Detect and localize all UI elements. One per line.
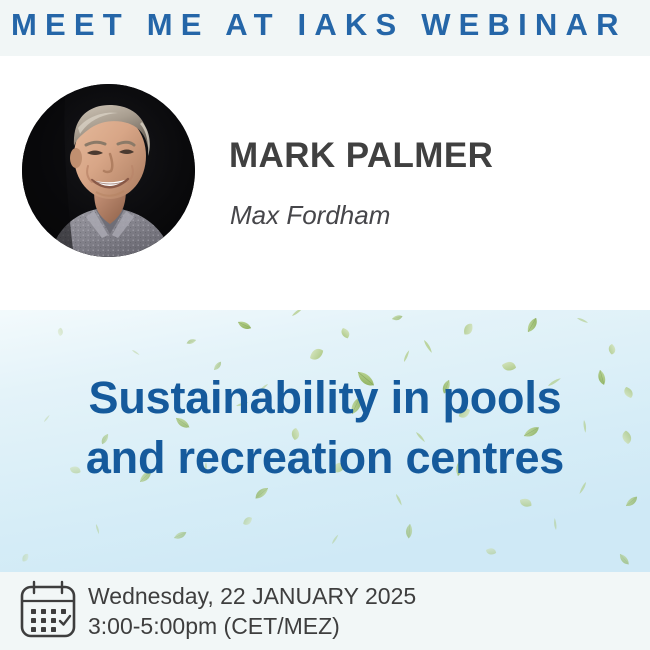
webinar-title: Sustainability in pools and recreation c… <box>0 368 650 488</box>
webinar-title-line-1: Sustainability in pools <box>0 368 650 428</box>
webinar-title-line-2: and recreation centres <box>0 428 650 488</box>
calendar-icon <box>17 578 79 640</box>
speaker-avatar <box>22 84 195 257</box>
avatar-photo <box>22 84 195 257</box>
header-banner-text: MEET ME AT IAKS WEBINAR <box>11 7 627 43</box>
event-date: Wednesday, 22 JANUARY 2025 <box>88 581 416 611</box>
event-time: 3:00-5:00pm (CET/MEZ) <box>88 611 416 641</box>
webinar-promo-poster: MEET ME AT IAKS WEBINAR <box>0 0 650 650</box>
speaker-name: MARK PALMER <box>229 136 493 176</box>
speaker-organisation: Max Fordham <box>230 200 390 231</box>
header-banner: MEET ME AT IAKS WEBINAR <box>0 0 650 56</box>
event-datetime: Wednesday, 22 JANUARY 2025 3:00-5:00pm (… <box>88 581 416 641</box>
